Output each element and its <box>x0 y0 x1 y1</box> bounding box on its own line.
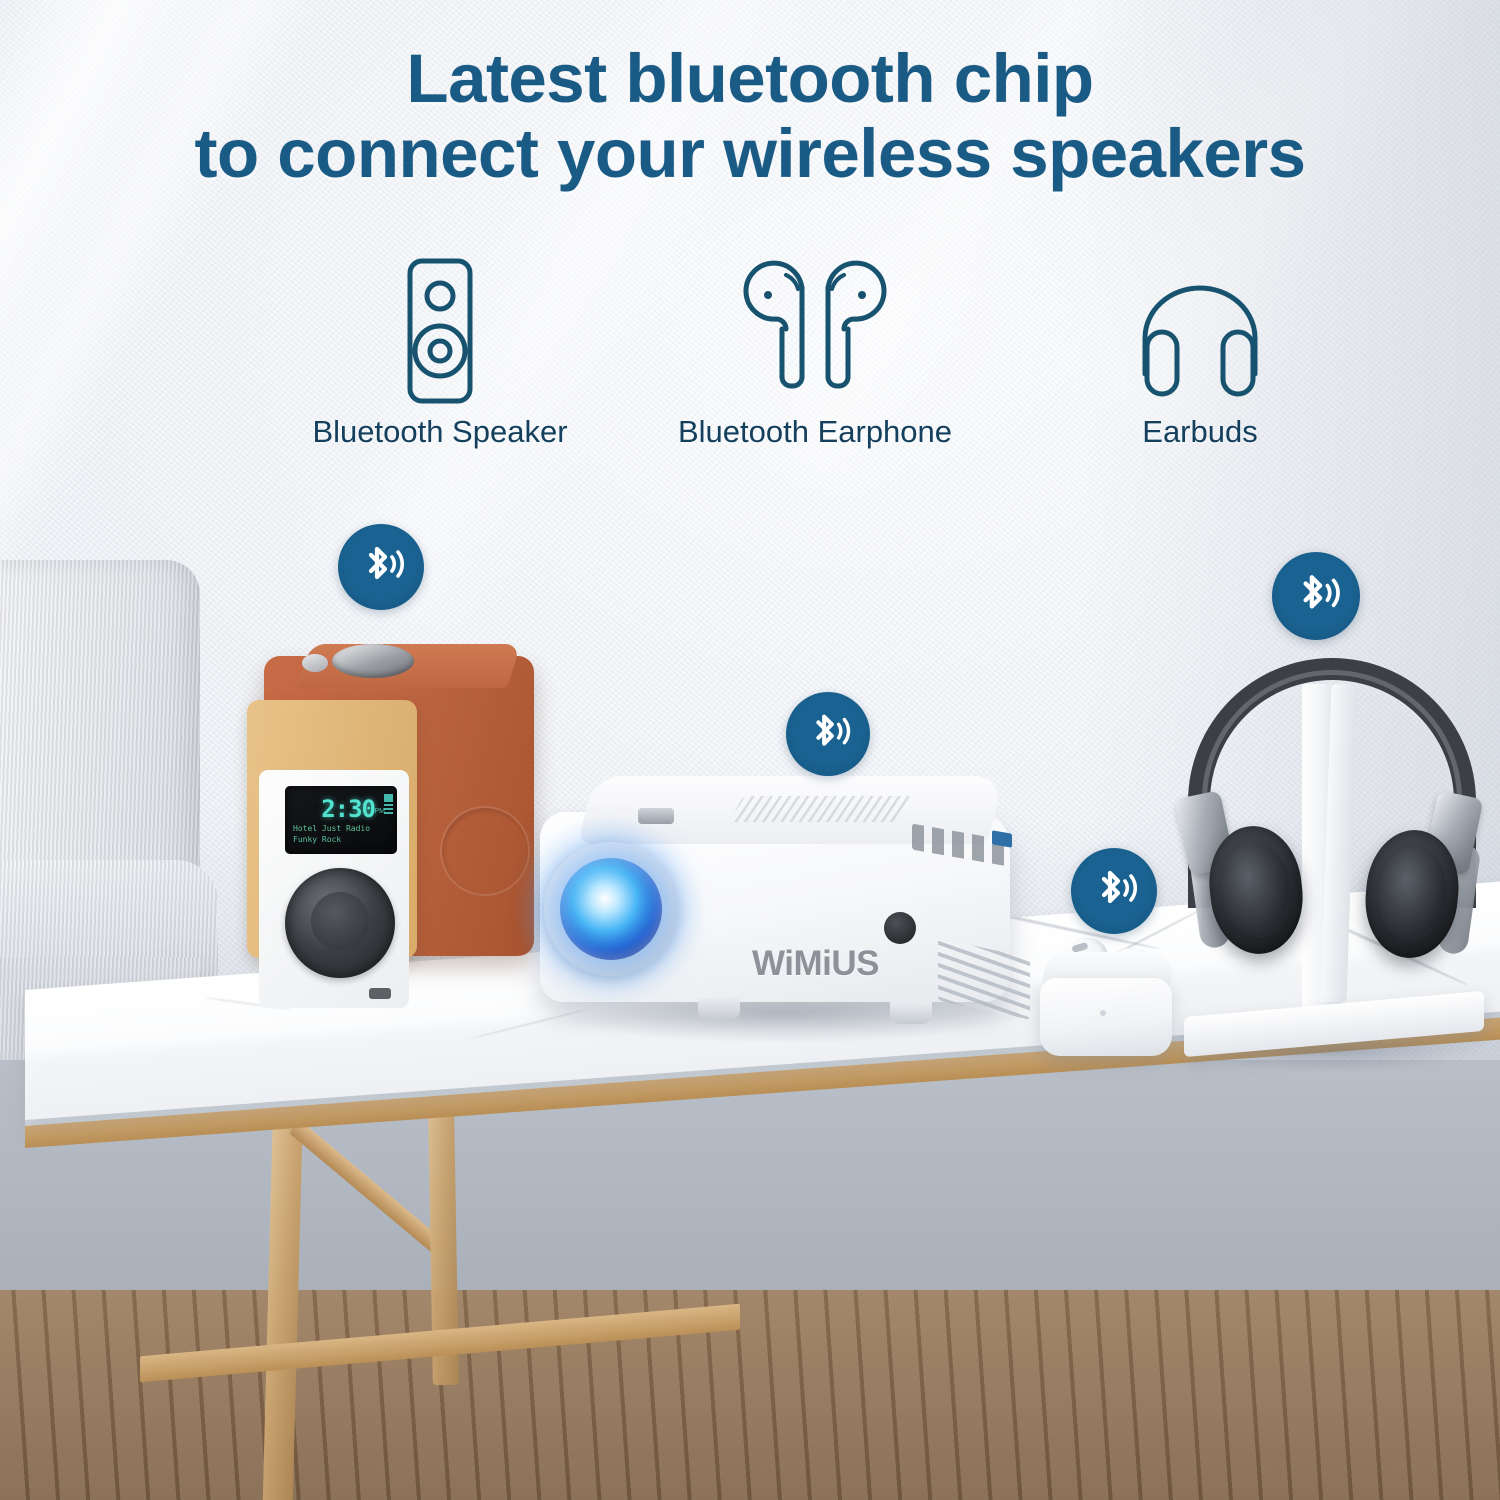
bluetooth-earphone-icon <box>615 246 1015 406</box>
bluetooth-badge-projector <box>786 692 870 776</box>
feature-label: Bluetooth Earphone <box>615 414 1015 450</box>
bluetooth-signal-icon <box>353 539 409 595</box>
radio-volume-knob <box>332 644 414 678</box>
bluetooth-badge-headphones <box>1272 552 1360 640</box>
radio-lcd-line2: Funky Rock <box>293 835 341 844</box>
radio-secondary-knob <box>302 654 328 672</box>
earcup-pad-right <box>1374 843 1450 945</box>
bluetooth-badge-earbuds <box>1071 848 1157 934</box>
earbuds-case-led <box>1100 1010 1106 1016</box>
wimius-projector: WiMiUS <box>520 766 1060 1056</box>
radio-logo-emboss <box>440 806 530 896</box>
radio-ir-sensor <box>369 988 391 999</box>
bluetooth-radio-speaker: 2:30 PM Hotel Just Radio Funky Rock <box>244 640 532 970</box>
projector-brand-logo: WiMiUS <box>752 944 879 984</box>
earbuds-headphones-icon <box>1000 246 1400 406</box>
bluetooth-signal-icon <box>801 707 855 761</box>
projector-lens <box>560 858 662 960</box>
bluetooth-speaker-icon <box>240 246 640 406</box>
projector-lens-ring <box>544 842 678 976</box>
headline: Latest bluetooth chip to connect your wi… <box>0 42 1500 191</box>
radio-wood-frame: 2:30 PM Hotel Just Radio Funky Rock <box>247 700 417 958</box>
feature-label: Bluetooth Speaker <box>240 414 640 450</box>
sofa-fabric-texture <box>0 560 200 900</box>
bluetooth-signal-icon <box>1086 863 1142 919</box>
wood-floor <box>0 1290 1500 1500</box>
radio-lcd-station: Hotel Just Radio Funky Rock <box>293 824 370 846</box>
feature-bluetooth-earphone: Bluetooth Earphone <box>615 246 1015 450</box>
radio-front-panel: 2:30 PM Hotel Just Radio Funky Rock <box>259 770 409 1008</box>
projector-foot <box>890 1002 932 1024</box>
sofa-backrest <box>0 560 200 900</box>
earcup-pad-left <box>1217 839 1295 942</box>
projector-top-vents <box>730 796 913 822</box>
radio-lcd-line1: Hotel Just Radio <box>293 824 370 833</box>
product-feature-image: Latest bluetooth chip to connect your wi… <box>0 0 1500 1500</box>
bluetooth-signal-icon <box>1287 567 1345 625</box>
feature-bluetooth-speaker: Bluetooth Speaker <box>240 246 640 450</box>
bluetooth-badge-speaker <box>338 524 424 610</box>
feature-label: Earbuds <box>1000 414 1400 450</box>
radio-lcd-time: 2:30 <box>321 795 375 823</box>
feature-earbuds: Earbuds <box>1000 246 1400 450</box>
headphones-on-stand <box>1176 648 1500 1078</box>
floor-planks <box>0 1290 1500 1500</box>
radio-driver-dome <box>311 892 369 950</box>
projector-foot <box>698 998 740 1020</box>
projector-focus-dial <box>638 808 674 824</box>
headline-line-2: to connect your wireless speakers <box>0 117 1500 192</box>
radio-lcd-display: 2:30 PM Hotel Just Radio Funky Rock <box>285 786 397 854</box>
headline-line-1: Latest bluetooth chip <box>0 42 1500 117</box>
earbuds-case-body <box>1040 978 1172 1056</box>
radio-speaker-driver <box>285 868 395 978</box>
projector-ir-receiver <box>884 912 916 944</box>
feature-icon-row: Bluetooth Speaker Bluetooth Earphone <box>0 246 1500 456</box>
signal-bars-icon <box>384 794 393 814</box>
